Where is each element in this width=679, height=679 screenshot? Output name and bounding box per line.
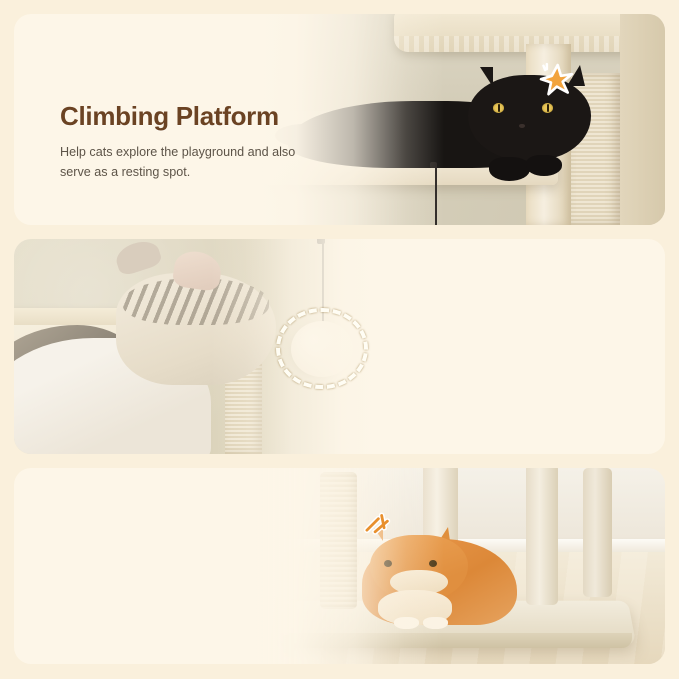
photo-fluffy-pompom xyxy=(14,239,379,454)
dashed-ring-highlight-icon xyxy=(276,308,367,390)
feature-panel-climbing-platform: Climbing Platform Help cats explore the … xyxy=(14,14,665,225)
photo-reinforced-base xyxy=(255,468,665,664)
panel-description: Help cats explore the playground and als… xyxy=(60,142,320,183)
feature-panel-fluffy-pompom: Fluffy Pompom Dangling balls sway in the… xyxy=(14,239,665,454)
feature-panel-reinforced-base: Reinforced Base Thickened double-layer b… xyxy=(14,468,665,664)
infographic-page: Climbing Platform Help cats explore the … xyxy=(0,0,679,679)
panel-heading: Climbing Platform xyxy=(60,102,320,131)
text-block-climbing-platform: Climbing Platform Help cats explore the … xyxy=(60,102,320,182)
star-burst-icon xyxy=(536,60,576,100)
crown-icon xyxy=(362,507,398,537)
